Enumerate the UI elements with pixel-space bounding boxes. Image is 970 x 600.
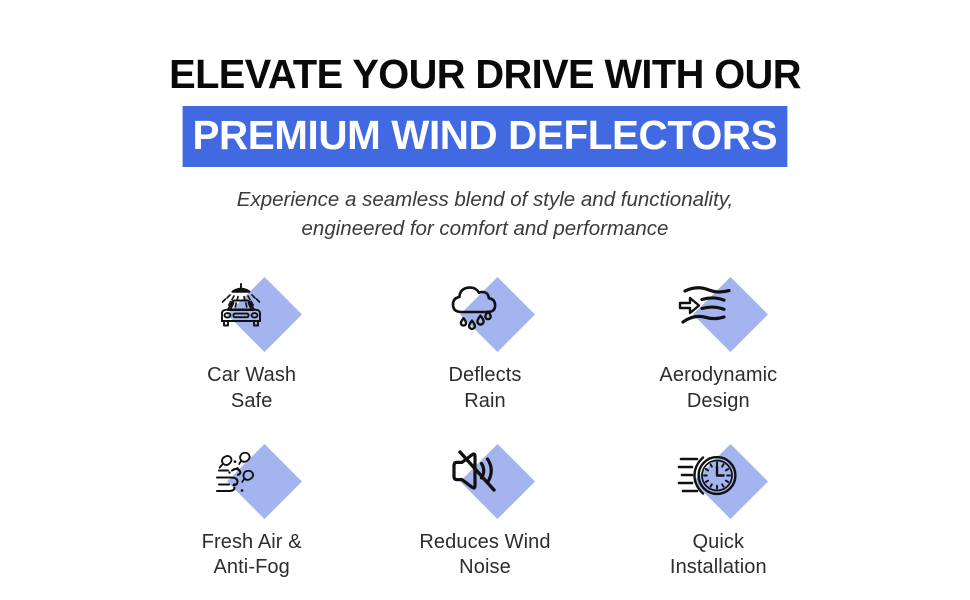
promo-banner: ELEVATE YOUR DRIVE WITH OUR PREMIUM WIND… xyxy=(0,0,970,600)
muted-speaker-icon xyxy=(448,448,504,504)
headline-highlight: PREMIUM WIND DEFLECTORS xyxy=(183,106,787,167)
headline-primary: ELEVATE YOUR DRIVE WITH OUR xyxy=(15,52,956,96)
feature-label-line-1: Car Wash xyxy=(207,363,296,388)
feature-label-line-2: Rain xyxy=(448,389,521,414)
feature-reduces-wind-noise: Reduces Wind Noise xyxy=(368,440,601,580)
subtitle: Experience a seamless blend of style and… xyxy=(175,185,795,243)
wind-leaves-icon xyxy=(211,448,275,504)
headline-block: ELEVATE YOUR DRIVE WITH OUR PREMIUM WIND… xyxy=(0,0,970,167)
icon-stage xyxy=(425,440,545,516)
subtitle-line-2: engineered for comfort and performance xyxy=(175,214,795,243)
feature-label-line-2: Installation xyxy=(670,555,767,580)
icon-stage xyxy=(192,440,312,516)
feature-fresh-air-anti-fog: Fresh Air & Anti-Fog xyxy=(135,440,368,580)
icon-stage xyxy=(658,273,778,349)
car-wash-icon xyxy=(211,279,275,339)
feature-car-wash-safe: Car Wash Safe xyxy=(135,273,368,413)
feature-label-line-2: Design xyxy=(659,389,777,414)
feature-label: Car Wash Safe xyxy=(207,363,296,413)
feature-aerodynamic-design: Aerodynamic Design xyxy=(602,273,835,413)
feature-label-line-2: Safe xyxy=(207,389,296,414)
feature-quick-installation: Quick Installation xyxy=(602,440,835,580)
feature-label-line-2: Noise xyxy=(419,555,550,580)
icon-stage xyxy=(192,273,312,349)
feature-label-line-1: Quick xyxy=(670,530,767,555)
fast-clock-icon xyxy=(677,448,741,504)
feature-label-line-1: Fresh Air & xyxy=(202,530,302,555)
feature-deflects-rain: Deflects Rain xyxy=(368,273,601,413)
feature-label-line-1: Deflects xyxy=(448,363,521,388)
feature-label-line-1: Reduces Wind xyxy=(419,530,550,555)
feature-label-line-1: Aerodynamic xyxy=(659,363,777,388)
feature-label: Aerodynamic Design xyxy=(659,363,777,413)
headline-highlight-wrap: PREMIUM WIND DEFLECTORS xyxy=(0,106,970,167)
icon-stage xyxy=(425,273,545,349)
feature-grid: Car Wash Safe xyxy=(135,273,835,580)
subtitle-line-1: Experience a seamless blend of style and… xyxy=(175,185,795,214)
feature-label: Fresh Air & Anti-Fog xyxy=(202,530,302,580)
feature-label: Deflects Rain xyxy=(448,363,521,413)
feature-label-line-2: Anti-Fog xyxy=(202,555,302,580)
rain-cloud-icon xyxy=(446,280,506,338)
icon-stage xyxy=(658,440,778,516)
feature-label: Reduces Wind Noise xyxy=(419,530,550,580)
feature-label: Quick Installation xyxy=(670,530,767,580)
airflow-icon xyxy=(677,282,741,336)
